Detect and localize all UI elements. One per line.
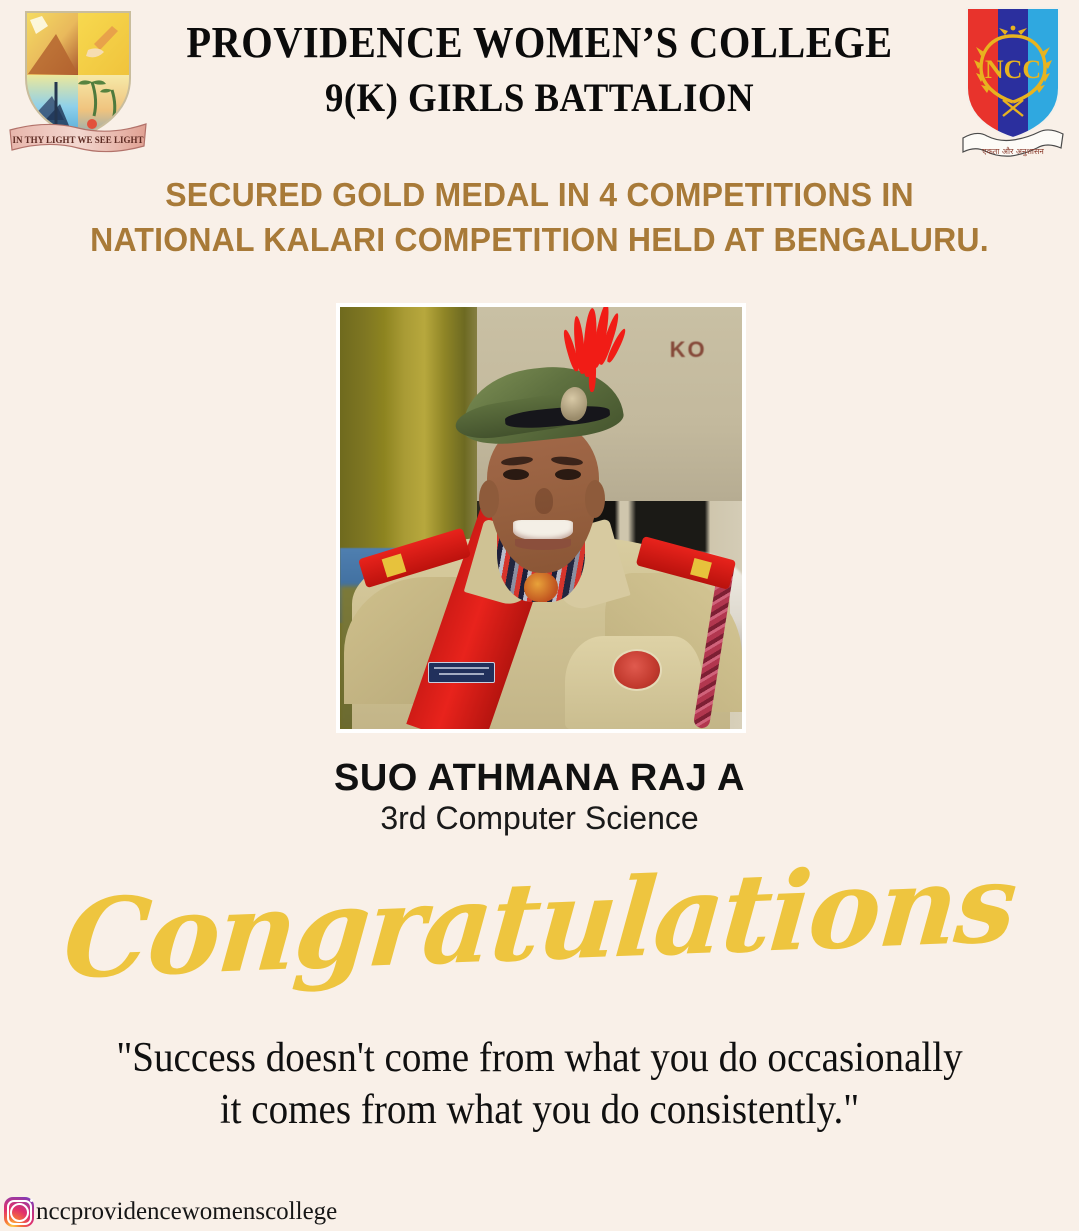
achievement-subtitle-line-1: SECURED GOLD MEDAL IN 4 COMPETITIONS IN	[30, 172, 1049, 217]
page-title-line-1: PROVIDENCE WOMEN’S COLLEGE	[181, 16, 898, 70]
poster-canvas: IN THY LIGHT WE SEE LIGHT PROVIDENCE WOM…	[0, 0, 1079, 1231]
cadet-figure	[340, 307, 742, 729]
poster-header: IN THY LIGHT WE SEE LIGHT PROVIDENCE WOM…	[0, 0, 1079, 160]
cadet-ear-right	[585, 480, 605, 518]
cadet-department: 3rd Computer Science	[0, 800, 1079, 837]
cadet-red-plume	[561, 307, 637, 396]
header-titles: PROVIDENCE WOMEN’S COLLEGE 9(K) GIRLS BA…	[150, 16, 929, 126]
cadet-lower-lip	[515, 539, 571, 550]
congratulations-text: Congratulations	[0, 841, 1079, 1003]
cadet-chest-medal	[612, 649, 662, 691]
cadet-scarf-badge	[524, 572, 558, 602]
cadet-name-badge	[428, 662, 494, 683]
page-title-line-2: 9(K) GIRLS BATTALION	[181, 70, 898, 126]
crest-motto: IN THY LIGHT WE SEE LIGHT	[13, 135, 144, 145]
cadet-nose	[535, 488, 553, 513]
instagram-footer[interactable]: nccprovidencewomenscollege	[4, 1197, 337, 1227]
achievement-subtitle: SECURED GOLD MEDAL IN 4 COMPETITIONS IN …	[30, 172, 1049, 262]
instagram-icon[interactable]	[4, 1197, 34, 1227]
cadet-photo: KO	[340, 307, 742, 729]
motivational-quote: "Success doesn't come from what you do o…	[60, 1032, 1019, 1136]
cadet-mouth	[513, 520, 573, 541]
cadet-ear-left	[479, 480, 499, 518]
ncc-text: NCC	[985, 55, 1041, 84]
ncc-emblem-icon: NCC एकता और अनुशासन	[953, 2, 1073, 162]
cadet-name: SUO ATHMANA RAJ A	[0, 757, 1079, 800]
quote-line-1: "Success doesn't come from what you do o…	[60, 1032, 1019, 1084]
college-crest-icon: IN THY LIGHT WE SEE LIGHT	[8, 4, 148, 156]
quote-line-2: it comes from what you do consistently."	[60, 1084, 1019, 1136]
cadet-photo-frame: KO	[336, 303, 746, 733]
instagram-handle[interactable]: nccprovidencewomenscollege	[36, 1197, 337, 1227]
ncc-motto: एकता और अनुशासन	[982, 146, 1044, 157]
achievement-subtitle-line-2: NATIONAL KALARI COMPETITION HELD AT BENG…	[30, 217, 1049, 262]
